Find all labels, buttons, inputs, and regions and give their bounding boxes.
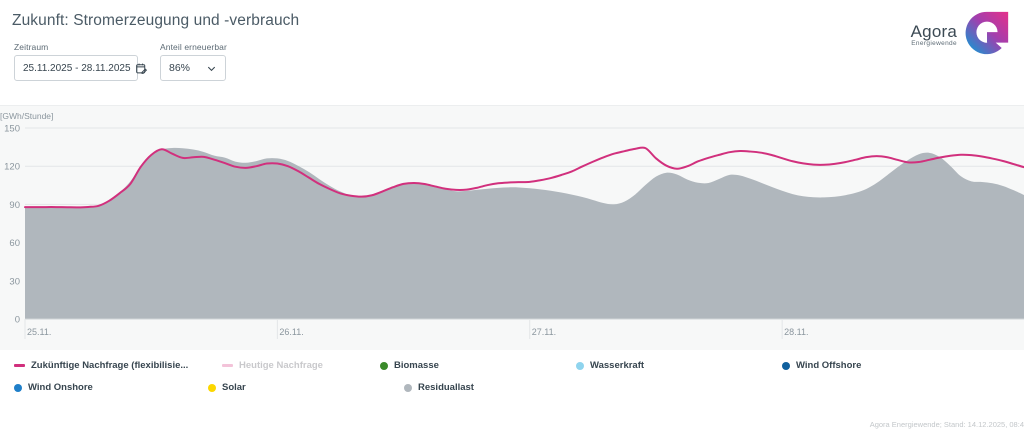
share-label: Anteil erneuerbar xyxy=(160,42,227,52)
chart-legend: Zukünftige Nachfrage (flexibilisie...Heu… xyxy=(0,350,1024,433)
legend-item-wind-onshore[interactable]: Wind Onshore xyxy=(14,382,93,393)
svg-text:30: 30 xyxy=(9,276,20,287)
svg-text:25.11.: 25.11. xyxy=(27,327,51,337)
svg-text:0: 0 xyxy=(15,315,20,326)
timerange-input[interactable]: 25.11.2025 - 28.11.2025 xyxy=(14,55,138,81)
legend-label: Residuallast xyxy=(418,382,474,393)
legend-line-swatch xyxy=(14,364,25,367)
svg-text:26.11.: 26.11. xyxy=(279,327,303,337)
legend-label: Wind Offshore xyxy=(796,360,861,371)
svg-text:90: 90 xyxy=(9,200,20,211)
legend-dot-swatch xyxy=(404,384,412,392)
chevron-down-icon[interactable] xyxy=(206,63,217,74)
page-header: Zukunft: Stromerzeugung und -verbrauch Z… xyxy=(0,0,1024,105)
timerange-label: Zeitraum xyxy=(14,42,138,52)
brand-name: Agora xyxy=(911,23,957,41)
timerange-control: Zeitraum 25.11.2025 - 28.11.2025 xyxy=(14,42,138,81)
legend-dot-swatch xyxy=(14,384,22,392)
svg-text:27.11.: 27.11. xyxy=(532,327,556,337)
chart-panel: [GWh/Stunde] 030609012015025.11.26.11.27… xyxy=(0,105,1024,350)
brand-logo: Agora Energiewende xyxy=(911,10,1010,61)
legend-label: Biomasse xyxy=(394,360,439,371)
svg-text:150: 150 xyxy=(4,124,20,135)
legend-item-biomasse[interactable]: Biomasse xyxy=(380,360,439,371)
calendar-edit-icon[interactable] xyxy=(135,62,148,75)
brand-tagline: Energiewende xyxy=(911,41,957,48)
svg-text:60: 60 xyxy=(9,238,20,249)
y-axis-unit-label: [GWh/Stunde] xyxy=(0,111,53,121)
page-title: Zukunft: Stromerzeugung und -verbrauch xyxy=(12,12,1024,30)
legend-dot-swatch xyxy=(782,362,790,370)
legend-item-wasserkraft[interactable]: Wasserkraft xyxy=(576,360,644,371)
brand-logo-text: Agora Energiewende xyxy=(911,23,957,48)
legend-label: Zukünftige Nachfrage (flexibilisie... xyxy=(31,360,188,371)
legend-item-wind-offshore[interactable]: Wind Offshore xyxy=(782,360,861,371)
svg-text:120: 120 xyxy=(4,162,20,173)
legend-item-zukünftige-nachfrage-flexibilisie[interactable]: Zukünftige Nachfrage (flexibilisie... xyxy=(14,360,188,371)
legend-label: Heutige Nachfrage xyxy=(239,360,323,371)
legend-item-heutige-nachfrage[interactable]: Heutige Nachfrage xyxy=(222,360,323,371)
share-value: 86% xyxy=(169,62,190,74)
filter-controls: Zeitraum 25.11.2025 - 28.11.2025 Anteil … xyxy=(14,42,1024,81)
share-control: Anteil erneuerbar 86% xyxy=(160,42,227,81)
svg-text:28.11.: 28.11. xyxy=(784,327,808,337)
legend-item-solar[interactable]: Solar xyxy=(208,382,246,393)
legend-dot-swatch xyxy=(576,362,584,370)
legend-dot-swatch xyxy=(380,362,388,370)
stacked-area-chart[interactable]: 030609012015025.11.26.11.27.11.28.11. xyxy=(0,106,1024,351)
share-select[interactable]: 86% xyxy=(160,55,226,81)
legend-dot-swatch xyxy=(208,384,216,392)
source-note: Agora Energiewende; Stand: 14.12.2025, 0… xyxy=(870,420,1024,429)
timerange-value: 25.11.2025 - 28.11.2025 xyxy=(23,63,131,74)
legend-line-swatch xyxy=(222,364,233,367)
legend-label: Wasserkraft xyxy=(590,360,644,371)
legend-label: Wind Onshore xyxy=(28,382,93,393)
agora-circle-icon xyxy=(964,10,1010,61)
legend-item-residuallast[interactable]: Residuallast xyxy=(404,382,474,393)
legend-label: Solar xyxy=(222,382,246,393)
